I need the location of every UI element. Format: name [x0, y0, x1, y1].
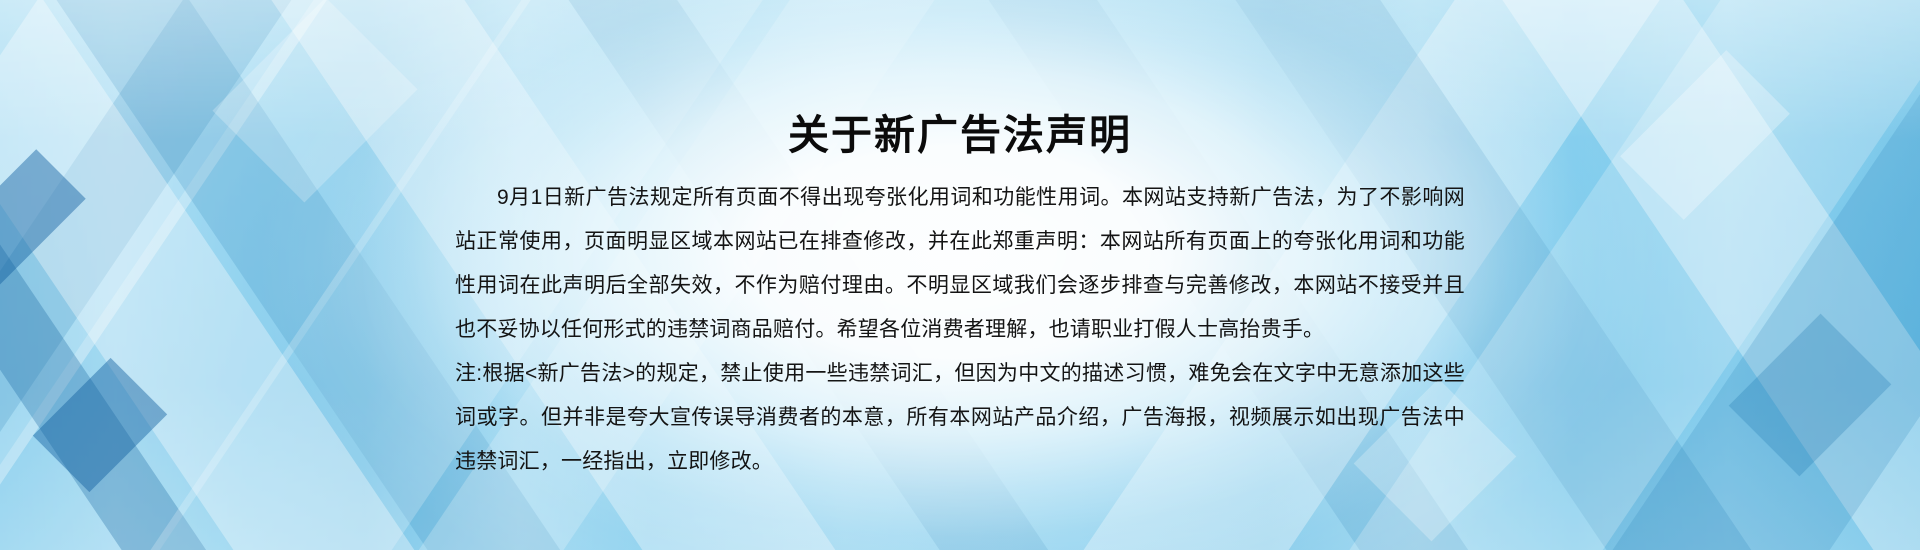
statement-paragraph-2: 注:根据<新广告法>的规定，禁止使用一些违禁词汇，但因为中文的描述习惯，难免会在…: [455, 352, 1465, 484]
page-title: 关于新广告法声明: [0, 111, 1920, 160]
statement-body: 9月1日新广告法规定所有页面不得出现夸张化用词和功能性用词。本网站支持新广告法，…: [455, 176, 1465, 484]
advertising-law-statement-banner: 关于新广告法声明 9月1日新广告法规定所有页面不得出现夸张化用词和功能性用词。本…: [0, 0, 1920, 550]
statement-paragraph-1: 9月1日新广告法规定所有页面不得出现夸张化用词和功能性用词。本网站支持新广告法，…: [455, 176, 1465, 352]
statement-content: 关于新广告法声明 9月1日新广告法规定所有页面不得出现夸张化用词和功能性用词。本…: [0, 0, 1920, 550]
